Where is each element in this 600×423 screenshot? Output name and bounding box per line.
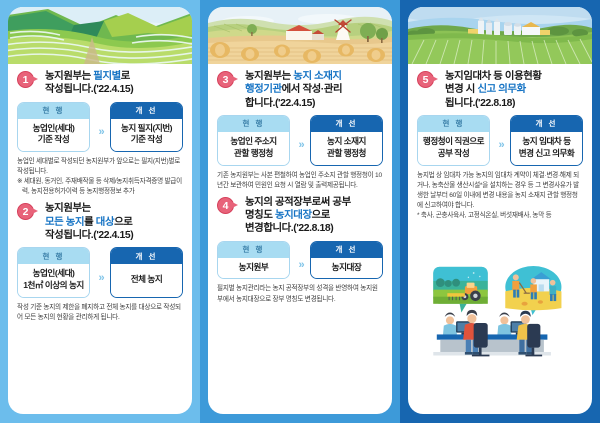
block-4: 4 농지의 공적장부로써 공부 명칭도 농지대장으로 변경합니다.('22.8.… xyxy=(217,196,383,308)
heading-seg: 농지원부는 xyxy=(45,203,91,214)
note-main: 농업인 세대별로 작성되던 농지원부가 앞으로는 필지(지번)별로 작성됩니다. xyxy=(17,158,180,175)
current-state-box: 현 행 농지원부 xyxy=(217,241,290,280)
block-3-note: 기존 농지원부는 사본 편철하여 농업인 주소지 관할 행정청이 10년간 보관… xyxy=(217,171,383,191)
heading-line3: 합니다.('22.4.15) xyxy=(245,98,315,109)
improved-line-2: 변경 신고 의무화 xyxy=(513,148,580,160)
block-4-heading-text: 농지의 공적장부로써 공부 명칭도 농지대장으로 변경합니다.('22.8.18… xyxy=(245,196,383,236)
current-state-content: 농지원부 xyxy=(218,258,289,279)
current-state-label: 현 행 xyxy=(18,248,89,264)
improved-state-content: 농지 임대차 등 변경 신고 의무화 xyxy=(511,132,582,165)
current-state-content: 농업인 주소지 관할 행정청 xyxy=(218,132,289,165)
improved-state-label: 개 선 xyxy=(111,103,182,119)
change-arrow-icon: » xyxy=(92,102,108,153)
current-line-2: 관할 행정청 xyxy=(220,148,287,160)
current-line-1: 농업인 주소지 xyxy=(220,136,287,148)
heading-seg-highlight: 모든 농지 xyxy=(45,217,84,228)
block-4-note: 필지별 농지관리라는 농지 공적장부의 성격을 반영하여 농지원부에서 농지대장… xyxy=(217,284,383,304)
panel-2-spacer xyxy=(217,310,383,410)
change-arrow-icon: » xyxy=(492,115,508,166)
block-5: 5 농지임대차 등 이용현황 변경 시 신고 의무화 됩니다.('22.8.18… xyxy=(417,70,583,224)
block-5-heading-text: 농지임대차 등 이용현황 변경 시 신고 의무화 됩니다.('22.8.18) xyxy=(445,70,583,110)
badge-arrow-icon xyxy=(232,76,238,82)
improved-state-box: 개 선 농지대장 xyxy=(310,241,383,280)
change-arrow-icon: » xyxy=(292,115,308,166)
panel-1-spacer xyxy=(17,328,183,410)
improved-state-label: 개 선 xyxy=(311,242,382,258)
heading-seg: 농지원부는 xyxy=(45,71,93,82)
improved-state-content: 농지대장 xyxy=(311,258,382,279)
heading-seg-highlight: 행정기관 xyxy=(245,84,282,95)
badge-arrow-icon xyxy=(32,208,38,214)
number-badge-2-wrap: 2 xyxy=(17,203,41,223)
block-2-heading: 2 농지원부는 모든 농지를 대상으로 작성됩니다.('22.4.15) xyxy=(17,202,183,242)
badge-arrow-icon xyxy=(32,76,38,82)
heading-seg: 농지의 공적장부로써 공부 xyxy=(245,197,351,208)
improved-state-content: 농지 필지(지번) 기준 작성 xyxy=(111,119,182,152)
heading-line2: 작성됩니다.('22.4.15) xyxy=(45,84,133,95)
current-line-2: 1천㎡ 이상의 농지 xyxy=(20,280,87,292)
panel-3-body: 5 농지임대차 등 이용현황 변경 시 신고 의무화 됩니다.('22.8.18… xyxy=(408,64,592,414)
note-sub: ※ 세대원, 동거인, 주재배작물 등 삭제/농지취득자격증명 발급이력, 농지… xyxy=(17,177,183,197)
panel-1-card: 1 농지원부는 필지별로 작성됩니다.('22.4.15) 현 행 농업인 xyxy=(8,7,192,414)
improved-state-label: 개 선 xyxy=(511,116,582,132)
current-state-label: 현 행 xyxy=(218,116,289,132)
current-state-content: 행정청이 직권으로 공부 작성 xyxy=(418,132,489,165)
improved-state-box: 개 선 농지 임대차 등 변경 신고 의무화 xyxy=(510,115,583,166)
heading-seg-highlight: 신고 의무화 xyxy=(477,84,525,95)
number-badge-3-wrap: 3 xyxy=(217,71,241,91)
improved-state-box: 개 선 농지 필지(지번) 기준 작성 xyxy=(110,102,183,153)
block-3-comparison: 현 행 농업인 주소지 관할 행정청 » 개 선 농지 소재지 관할 행정청 xyxy=(217,115,383,166)
badge-arrow-icon xyxy=(432,76,438,82)
panel-2-body: 3 농지원부는 농지 소재지 행정기관에서 작성·관리 합니다.('22.4.1… xyxy=(208,64,392,414)
improved-line-1: 농지 소재지 xyxy=(313,136,380,148)
current-state-content: 농업인(세대) 기준 작성 xyxy=(18,119,89,152)
heading-seg-highlight: 농지대장 xyxy=(275,210,312,221)
block-2: 2 농지원부는 모든 농지를 대상으로 작성됩니다.('22.4.15) 현 행 xyxy=(17,202,183,326)
note-main: 기존 농지원부는 사본 편철하여 농업인 주소지 관할 행정청이 10년간 보관… xyxy=(217,172,382,189)
note-main: 작성 기준 농지의 제한을 폐지하고 전체 농지를 대상으로 작성되어 모든 농… xyxy=(17,304,181,321)
current-state-box: 현 행 농업인 주소지 관할 행정청 xyxy=(217,115,290,166)
heading-line3: 됩니다.('22.8.18) xyxy=(445,98,515,109)
wheat-field-haybale-windmill-illustration xyxy=(208,7,392,64)
heading-seg-highlight: 필지별 xyxy=(93,71,120,82)
improved-line-2: 기준 작성 xyxy=(113,134,180,146)
panel-2: 3 농지원부는 농지 소재지 행정기관에서 작성·관리 합니다.('22.4.1… xyxy=(200,0,400,423)
block-2-heading-text: 농지원부는 모든 농지를 대상으로 작성됩니다.('22.4.15) xyxy=(45,202,183,242)
current-line-2: 공부 작성 xyxy=(420,148,487,160)
current-line-2: 기준 작성 xyxy=(20,134,87,146)
farm-silo-cropfield-illustration xyxy=(408,7,592,64)
current-line-1: 농지원부 xyxy=(220,262,287,274)
block-5-note: 농지법 상 임대차 가능 농지의 임대차 계약이 체결·변경·해제 되거나, 농… xyxy=(417,171,583,221)
heading-seg: 으로 xyxy=(312,210,330,221)
current-state-box: 현 행 농업인(세대) 1천㎡ 이상의 농지 xyxy=(17,247,90,298)
number-badge-1-wrap: 1 xyxy=(17,71,41,91)
block-3-heading: 3 농지원부는 농지 소재지 행정기관에서 작성·관리 합니다.('22.4.1… xyxy=(217,70,383,110)
badge-arrow-icon xyxy=(232,202,238,208)
infographic-poster: 1 농지원부는 필지별로 작성됩니다.('22.4.15) 현 행 농업인 xyxy=(0,0,600,423)
block-2-note: 작성 기준 농지의 제한을 폐지하고 전체 농지를 대상으로 작성되어 모든 농… xyxy=(17,303,183,323)
current-line-1: 농업인(세대) xyxy=(20,268,87,280)
change-arrow-icon: » xyxy=(292,241,308,280)
number-badge-4-wrap: 4 xyxy=(217,197,241,217)
panel-1-body: 1 농지원부는 필지별로 작성됩니다.('22.4.15) 현 행 농업인 xyxy=(8,64,192,414)
improved-line-1: 전체 농지 xyxy=(113,274,180,286)
current-state-label: 현 행 xyxy=(218,242,289,258)
block-3-heading-text: 농지원부는 농지 소재지 행정기관에서 작성·관리 합니다.('22.4.15) xyxy=(245,70,383,110)
heading-seg: 에서 작성·관리 xyxy=(282,84,343,95)
number-badge-5-wrap: 5 xyxy=(417,71,441,91)
current-state-label: 현 행 xyxy=(18,103,89,119)
improved-line-1: 농지 임대차 등 xyxy=(513,136,580,148)
current-state-label: 현 행 xyxy=(418,116,489,132)
block-1: 1 농지원부는 필지별로 작성됩니다.('22.4.15) 현 행 농업인 xyxy=(17,70,183,200)
current-state-content: 농업인(세대) 1천㎡ 이상의 농지 xyxy=(18,264,89,297)
improved-line-1: 농지대장 xyxy=(313,262,380,274)
heading-seg: 명칭도 xyxy=(245,210,275,221)
heading-seg: 를 xyxy=(84,217,96,228)
heading-line3: 작성됩니다.('22.4.15) xyxy=(45,230,133,241)
civil-service-counter-consultation-illustration xyxy=(417,226,583,410)
heading-seg: 농지임대차 등 이용현황 xyxy=(445,71,542,82)
heading-seg-highlight: 대상 xyxy=(96,217,114,228)
improved-state-label: 개 선 xyxy=(111,248,182,264)
panel-3-card: 5 농지임대차 등 이용현황 변경 시 신고 의무화 됩니다.('22.8.18… xyxy=(408,7,592,414)
heading-line3: 변경합니다.('22.8.18) xyxy=(245,223,333,234)
heading-seg-highlight: 농지 소재지 xyxy=(293,71,341,82)
panel-1: 1 농지원부는 필지별로 작성됩니다.('22.4.15) 현 행 농업인 xyxy=(0,0,200,423)
block-4-comparison: 현 행 농지원부 » 개 선 농지대장 xyxy=(217,241,383,280)
note-main: 필지별 농지관리라는 농지 공적장부의 성격을 반영하여 농지원부에서 농지대장… xyxy=(217,285,378,302)
block-2-comparison: 현 행 농업인(세대) 1천㎡ 이상의 농지 » 개 선 전체 농지 xyxy=(17,247,183,298)
current-line-1: 행정청이 직권으로 xyxy=(420,136,487,148)
heading-seg: 으로 xyxy=(114,217,132,228)
improved-state-content: 전체 농지 xyxy=(111,264,182,297)
improved-state-box: 개 선 전체 농지 xyxy=(110,247,183,298)
block-5-comparison: 현 행 행정청이 직권으로 공부 작성 » 개 선 농지 임대차 등 변경 신 xyxy=(417,115,583,166)
note-sub: * 축사, 곤충사육사, 고정식온실, 버섯재배사, 농막 등 xyxy=(417,211,583,221)
block-1-note: 농업인 세대별로 작성되던 농지원부가 앞으로는 필지(지번)별로 작성됩니다.… xyxy=(17,157,183,197)
block-1-heading-text: 농지원부는 필지별로 작성됩니다.('22.4.15) xyxy=(45,70,183,97)
improved-state-box: 개 선 농지 소재지 관할 행정청 xyxy=(310,115,383,166)
heading-seg: 농지원부는 xyxy=(245,71,293,82)
note-main: 농지법 상 임대차 가능 농지의 임대차 계약이 체결·변경·해제 되거나, 농… xyxy=(417,172,579,209)
heading-seg: 로 xyxy=(121,71,130,82)
block-4-heading: 4 농지의 공적장부로써 공부 명칭도 농지대장으로 변경합니다.('22.8.… xyxy=(217,196,383,236)
terraced-rice-paddy-illustration xyxy=(8,7,192,64)
improved-line-2: 관할 행정청 xyxy=(313,148,380,160)
panel-2-card: 3 농지원부는 농지 소재지 행정기관에서 작성·관리 합니다.('22.4.1… xyxy=(208,7,392,414)
heading-seg: 변경 시 xyxy=(445,84,477,95)
current-state-box: 현 행 행정청이 직권으로 공부 작성 xyxy=(417,115,490,166)
improved-state-content: 농지 소재지 관할 행정청 xyxy=(311,132,382,165)
block-1-comparison: 현 행 농업인(세대) 기준 작성 » 개 선 농지 필지(지번) 기준 작성 xyxy=(17,102,183,153)
change-arrow-icon: » xyxy=(92,247,108,298)
improved-line-1: 농지 필지(지번) xyxy=(113,123,180,135)
improved-state-label: 개 선 xyxy=(311,116,382,132)
current-line-1: 농업인(세대) xyxy=(20,123,87,135)
block-5-heading: 5 농지임대차 등 이용현황 변경 시 신고 의무화 됩니다.('22.8.18… xyxy=(417,70,583,110)
panel-3: 5 농지임대차 등 이용현황 변경 시 신고 의무화 됩니다.('22.8.18… xyxy=(400,0,600,423)
block-3: 3 농지원부는 농지 소재지 행정기관에서 작성·관리 합니다.('22.4.1… xyxy=(217,70,383,194)
block-1-heading: 1 농지원부는 필지별로 작성됩니다.('22.4.15) xyxy=(17,70,183,97)
current-state-box: 현 행 농업인(세대) 기준 작성 xyxy=(17,102,90,153)
